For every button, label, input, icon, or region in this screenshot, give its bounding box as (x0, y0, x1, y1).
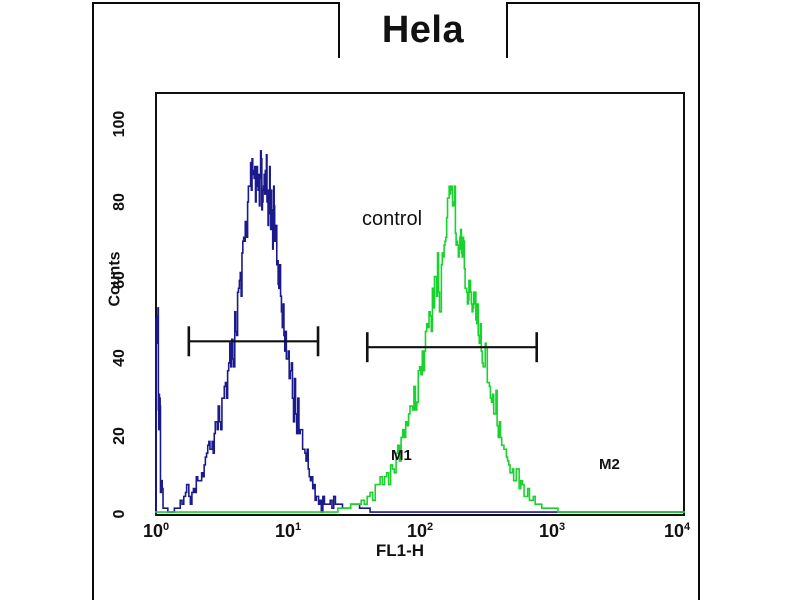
x-tick-exponent-1e2: 2 (427, 521, 433, 533)
x-tick-mantissa-1e0: 10 (143, 521, 163, 541)
y-tick-label-20: 20 (111, 423, 129, 449)
gate-marker-m2 (367, 332, 536, 362)
plot-area: control M1 M2 (155, 92, 685, 516)
x-tick-label-1e3: 103 (539, 521, 565, 542)
y-tick-label-40: 40 (111, 345, 129, 371)
x-tick-label-1e0: 100 (143, 521, 169, 542)
y-tick-label-100: 100 (111, 107, 129, 141)
control-annotation-label: control (362, 208, 422, 231)
x-tick-label-1e1: 101 (275, 521, 301, 542)
x-tick-mantissa-1e2: 10 (407, 521, 427, 541)
x-tick-exponent-1e0: 0 (163, 521, 169, 533)
x-tick-exponent-1e3: 3 (559, 521, 565, 533)
x-tick-exponent-1e4: 4 (684, 521, 690, 533)
x-tick-mantissa-1e3: 10 (539, 521, 559, 541)
histogram-svg (155, 92, 685, 516)
chart-title: Hela (382, 11, 464, 49)
y-tick-label-60: 60 (111, 267, 129, 293)
x-tick-label-1e4: 104 (664, 521, 690, 542)
x-tick-mantissa-1e4: 10 (664, 521, 684, 541)
x-tick-mantissa-1e1: 10 (275, 521, 295, 541)
y-tick-label-80: 80 (111, 189, 129, 215)
gate-marker-m1 (189, 326, 318, 356)
axis-ticks (155, 104, 685, 516)
x-axis-title: FL1-H (0, 541, 800, 561)
m1-marker-label: M1 (391, 447, 412, 464)
y-tick-label-0: 0 (111, 501, 129, 527)
m2-marker-label: M2 (599, 456, 620, 473)
x-tick-exponent-1e1: 1 (295, 521, 301, 533)
x-tick-label-1e2: 102 (407, 521, 433, 542)
chart-title-box: Hela (338, 2, 508, 58)
